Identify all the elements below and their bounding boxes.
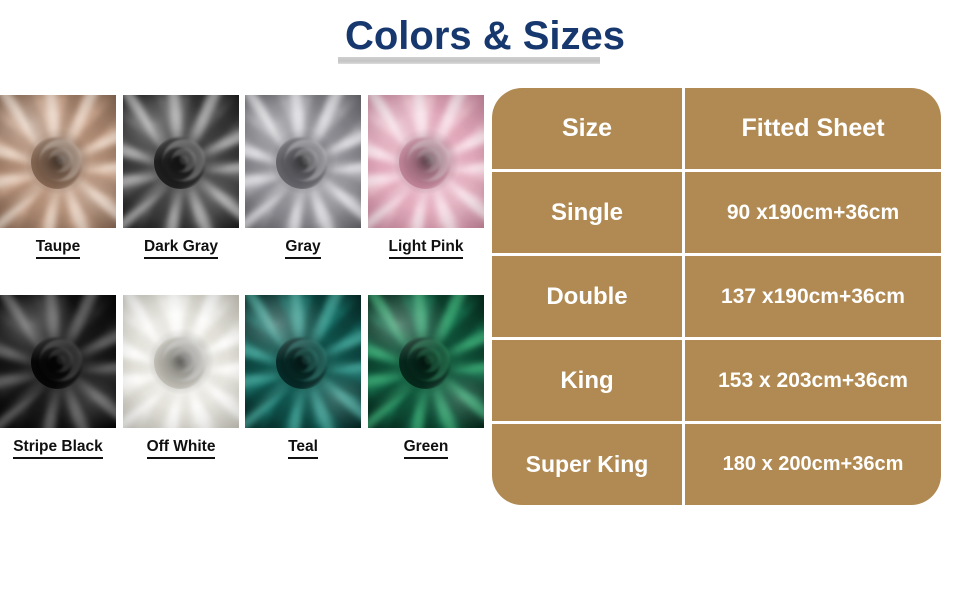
table-cell-fitted-sheet: 153 x 203cm+36cm: [685, 340, 941, 421]
swatch-label: Teal: [245, 438, 361, 459]
swatch-row: Stripe Black Off White Teal Green: [0, 295, 486, 495]
size-chart-table: Size Fitted Sheet Single 90 x190cm+36cm …: [492, 88, 941, 505]
satin-sheen-overlay: [123, 95, 239, 228]
page-header: Colors & Sizes: [0, 14, 970, 58]
swatch-label-text: Off White: [147, 438, 216, 459]
swatch-label: Taupe: [0, 238, 116, 259]
satin-gray-swatch: [245, 95, 361, 228]
swatch-label: Light Pink: [368, 238, 484, 259]
table-row: King 153 x 203cm+36cm: [492, 337, 941, 421]
table-header-size: Size: [492, 88, 685, 169]
swatch-item-teal[interactable]: Teal: [245, 295, 361, 459]
satin-sheen-overlay: [0, 95, 116, 228]
table-row: Single 90 x190cm+36cm: [492, 169, 941, 253]
table-cell-size: Super King: [492, 424, 685, 505]
satin-sheen-overlay: [245, 295, 361, 428]
satin-off-white-swatch: [123, 295, 239, 428]
swatch-label: Dark Gray: [123, 238, 239, 259]
table-cell-fitted-sheet: 180 x 200cm+36cm: [685, 424, 941, 505]
satin-sheen-overlay: [368, 95, 484, 228]
color-swatch-grid: Taupe Dark Gray Gray Light Pink Stripe B…: [0, 95, 486, 495]
satin-sheen-overlay: [245, 95, 361, 228]
table-header-fitted-sheet: Fitted Sheet: [685, 88, 941, 169]
swatch-label-text: Stripe Black: [13, 438, 103, 459]
swatch-label: Stripe Black: [0, 438, 116, 459]
swatch-item-green[interactable]: Green: [368, 295, 484, 459]
swatch-label: Green: [368, 438, 484, 459]
table-cell-fitted-sheet: 137 x190cm+36cm: [685, 256, 941, 337]
table-row: Double 137 x190cm+36cm: [492, 253, 941, 337]
swatch-label-text: Dark Gray: [144, 238, 218, 259]
table-cell-size: King: [492, 340, 685, 421]
satin-dark-gray-swatch: [123, 95, 239, 228]
satin-taupe-swatch: [0, 95, 116, 228]
table-cell-size: Single: [492, 172, 685, 253]
swatch-item-taupe[interactable]: Taupe: [0, 95, 116, 259]
satin-green-swatch: [368, 295, 484, 428]
satin-sheen-overlay: [123, 295, 239, 428]
swatch-item-dark-gray[interactable]: Dark Gray: [123, 95, 239, 259]
swatch-label-text: Teal: [288, 438, 318, 459]
table-cell-fitted-sheet: 90 x190cm+36cm: [685, 172, 941, 253]
swatch-label: Off White: [123, 438, 239, 459]
title-underline-band: [338, 57, 600, 64]
swatch-label: Gray: [245, 238, 361, 259]
swatch-item-stripe-black[interactable]: Stripe Black: [0, 295, 116, 459]
swatch-label-text: Taupe: [36, 238, 81, 259]
table-header-row: Size Fitted Sheet: [492, 88, 941, 169]
table-row: Super King 180 x 200cm+36cm: [492, 421, 941, 505]
satin-light-pink-swatch: [368, 95, 484, 228]
satin-teal-swatch: [245, 295, 361, 428]
satin-sheen-overlay: [0, 295, 116, 428]
swatch-item-gray[interactable]: Gray: [245, 95, 361, 259]
swatch-label-text: Gray: [285, 238, 320, 259]
satin-sheen-overlay: [368, 295, 484, 428]
page-title: Colors & Sizes: [345, 14, 625, 58]
swatch-item-off-white[interactable]: Off White: [123, 295, 239, 459]
swatch-label-text: Light Pink: [389, 238, 464, 259]
swatch-label-text: Green: [404, 438, 449, 459]
swatch-row: Taupe Dark Gray Gray Light Pink: [0, 95, 486, 295]
table-cell-size: Double: [492, 256, 685, 337]
satin-stripe-black-swatch: [0, 295, 116, 428]
swatch-item-light-pink[interactable]: Light Pink: [368, 95, 484, 259]
